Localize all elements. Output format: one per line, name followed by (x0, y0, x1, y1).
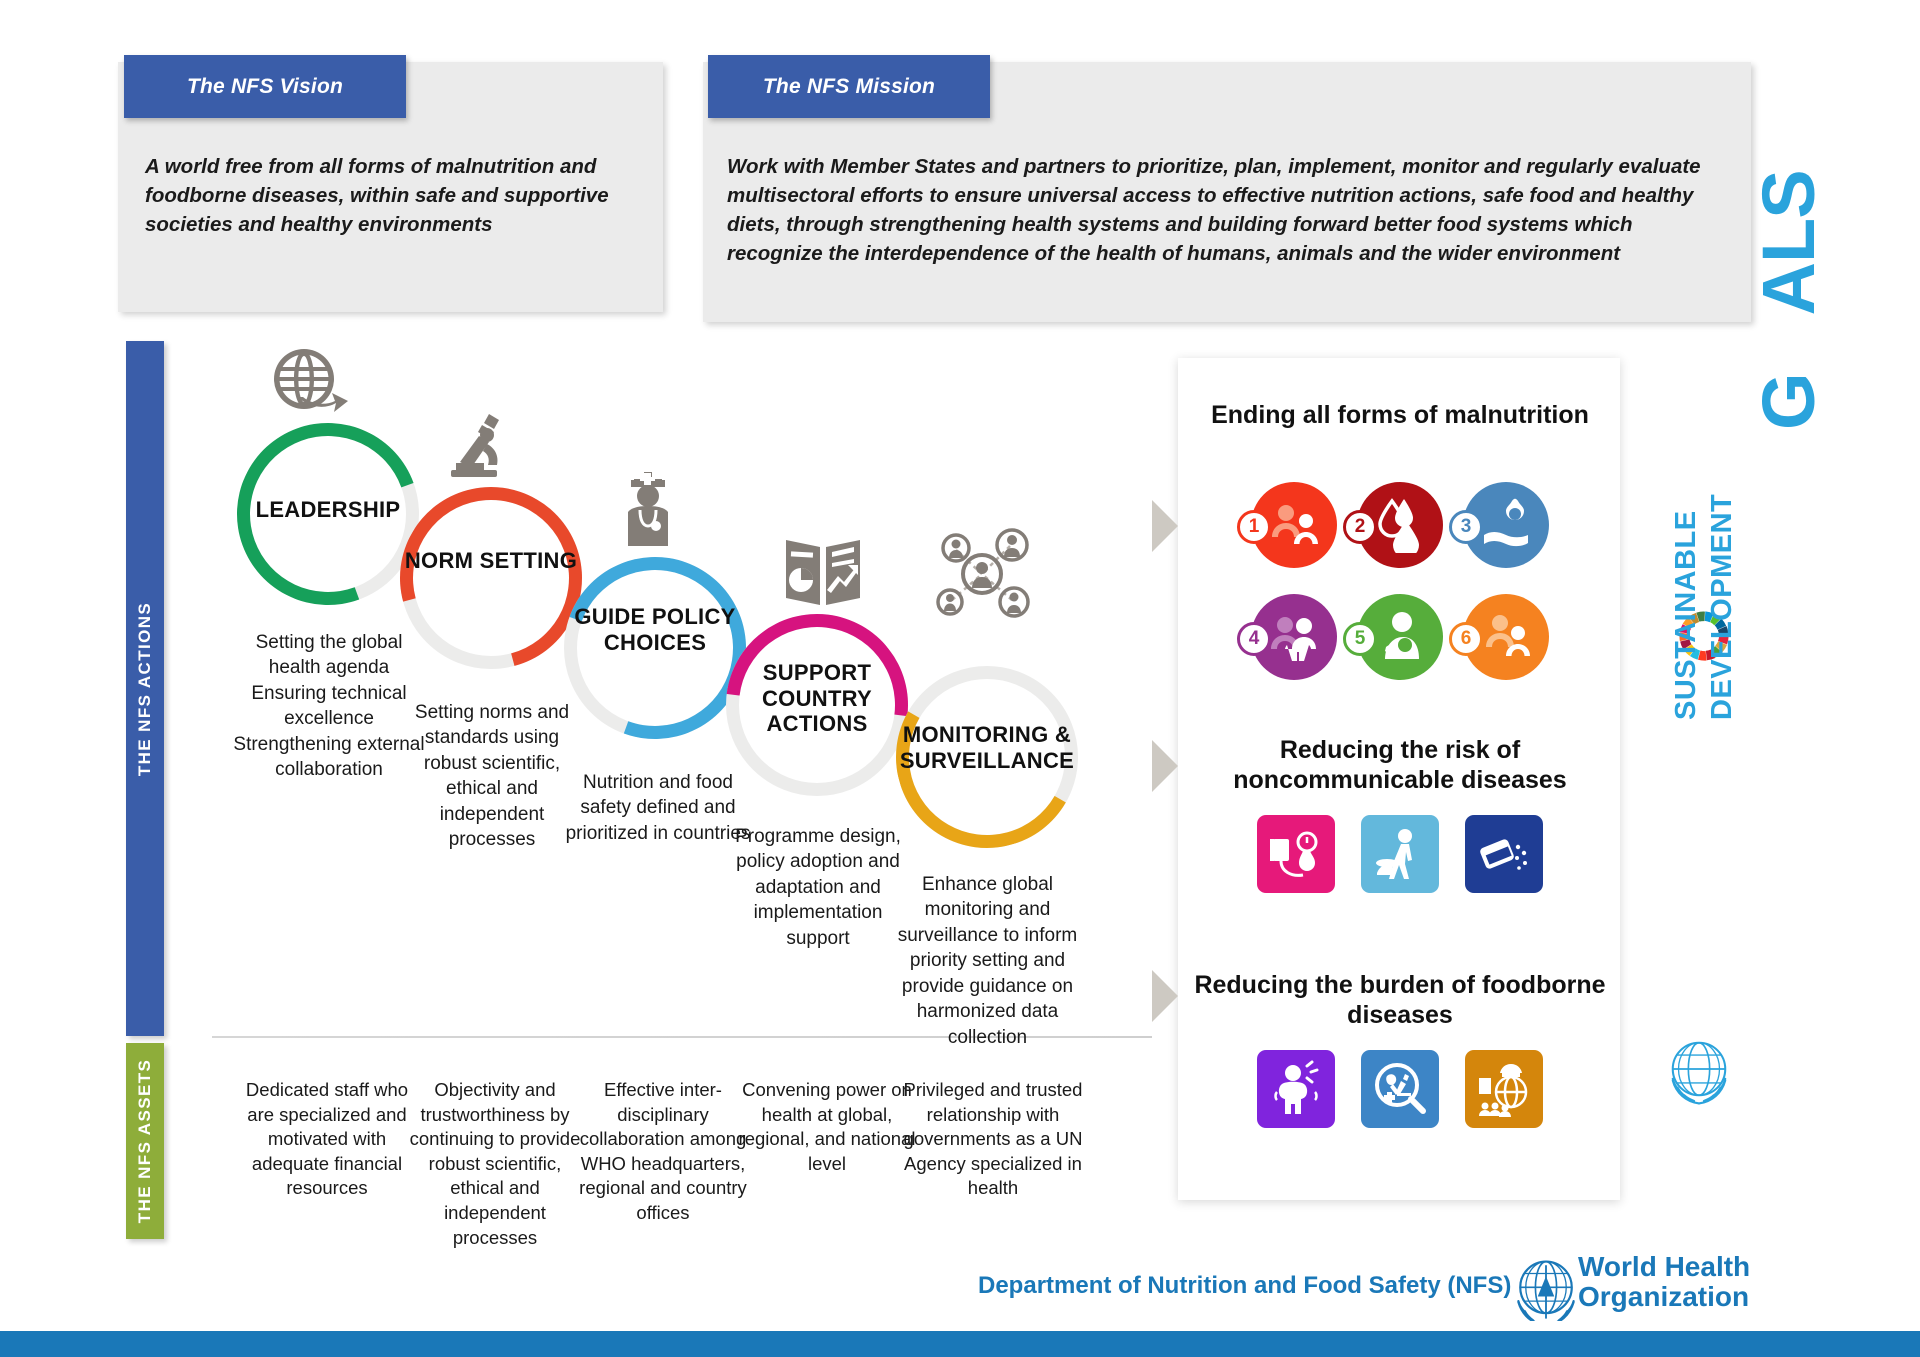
norm-setting-title: NORM SETTING (400, 548, 582, 574)
sdg-group-2-row (1190, 815, 1610, 893)
vision-tab: The NFS Vision (124, 55, 406, 118)
sdg-number-3: 3 (1449, 510, 1483, 544)
monitoring-title: MONITORING & SURVEILLANCE (886, 722, 1088, 773)
sdg-number-5: 5 (1343, 622, 1377, 656)
who-name-line1: World Health (1578, 1252, 1750, 1282)
vision-body-text: A world free from all forms of malnutrit… (145, 152, 655, 239)
sdg-number-4: 4 (1237, 622, 1271, 656)
asset-item-3: Effective inter-disciplinary collaborati… (568, 1078, 758, 1226)
panel-arrow-2-icon (1152, 740, 1178, 792)
stunting-icon (1266, 497, 1322, 553)
microscope-icon (443, 410, 521, 482)
sdg-item-2: 2 (1357, 482, 1443, 568)
panel-arrow-3-icon (1152, 970, 1178, 1022)
mission-body-text: Work with Member States and partners to … (727, 152, 1727, 268)
sdg-group-3-row (1190, 1050, 1610, 1128)
sidebar-assets-label: THE NFS ASSETS (135, 1059, 155, 1223)
sdg-logo: GALS SUSTAINABLE DEVELOPMENT (1636, 430, 1766, 1040)
sdg-item-1: 1 (1251, 482, 1337, 568)
report-chart-icon (780, 530, 866, 610)
stomach-illness-icon (1267, 1060, 1325, 1118)
norm-setting-ring (400, 487, 582, 669)
global-food-system-icon (1475, 1060, 1533, 1118)
asset-item-5: Privileged and trusted relationship with… (898, 1078, 1088, 1201)
ncd-item-3 (1465, 815, 1543, 893)
sdg-number-2: 2 (1343, 510, 1377, 544)
who-organization-name: World Health Organization (1578, 1252, 1750, 1312)
wasting-icon (1266, 609, 1322, 665)
sdg-item-3: 3 (1463, 482, 1549, 568)
physical-activity-icon (1371, 825, 1429, 883)
sdg-item-5: 5 (1357, 594, 1443, 680)
micronutrient-hand-icon (1478, 497, 1534, 553)
foodborne-item-2 (1361, 1050, 1439, 1128)
sidebar-actions-bar: THE NFS ACTIONS (126, 341, 164, 1036)
health-worker-icon (613, 470, 683, 550)
sidebar-actions-label: THE NFS ACTIONS (135, 601, 155, 775)
sdg-sustainable-text: SUSTAINABLE (1672, 510, 1702, 720)
sdg-group-1-row-2: 4 5 6 (1190, 594, 1610, 680)
sdg-number-6: 6 (1449, 622, 1483, 656)
monitoring-desc: Enhance global monitoring and surveillan… (880, 872, 1095, 1050)
panel-arrow-1-icon (1152, 500, 1178, 552)
foodborne-item-1 (1257, 1050, 1335, 1128)
sdg-goals-g: G (1747, 373, 1830, 430)
network-people-icon (930, 528, 1034, 620)
sdg-development-text: DEVELOPMENT (1708, 494, 1738, 720)
sdg-goals-text: GALS (1746, 170, 1831, 430)
sdg-goals-als: ALS (1747, 170, 1830, 315)
un-emblem-icon (1658, 1028, 1740, 1110)
mission-tab: The NFS Mission (708, 55, 990, 118)
who-name-line2: Organization (1578, 1282, 1750, 1312)
asset-item-1: Dedicated staff who are specialized and … (232, 1078, 422, 1201)
leadership-title: LEADERSHIP (237, 497, 419, 523)
foodborne-item-3 (1465, 1050, 1543, 1128)
ncd-item-2 (1361, 815, 1439, 893)
ncd-item-1 (1257, 815, 1335, 893)
overweight-icon (1478, 609, 1534, 665)
sidebar-assets-bar: THE NFS ASSETS (126, 1043, 164, 1239)
sdg-number-1: 1 (1237, 510, 1271, 544)
globe-arrow-icon (268, 345, 350, 417)
footer-blue-bar (0, 1331, 1920, 1357)
sdg-item-4: 4 (1251, 594, 1337, 680)
sdg-group-heading-1: Ending all forms of malnutrition (1190, 400, 1610, 430)
sdg-group-heading-2: Reducing the risk of noncommunicable dis… (1180, 735, 1620, 795)
footer-white-gap (0, 1321, 1920, 1331)
food-lab-analysis-icon (1371, 1060, 1429, 1118)
breastfeeding-icon (1372, 609, 1428, 665)
guide-policy-title: GUIDE POLICY CHOICES (564, 604, 746, 655)
sdg-group-1-row-1: 1 2 3 (1190, 482, 1610, 568)
blood-pressure-icon (1267, 825, 1325, 883)
asset-item-4: Convening power on health at global, reg… (732, 1078, 922, 1176)
sdg-item-6: 6 (1463, 594, 1549, 680)
asset-item-2: Objectivity and trustworthiness by conti… (400, 1078, 590, 1250)
support-country-title: SUPPORT COUNTRY ACTIONS (726, 660, 908, 737)
sdg-group-heading-3: Reducing the burden of foodborne disease… (1180, 970, 1620, 1030)
footer-department-label: Department of Nutrition and Food Safety … (978, 1272, 1511, 1300)
salt-reduction-icon (1475, 825, 1533, 883)
anaemia-drop-icon (1374, 497, 1426, 553)
